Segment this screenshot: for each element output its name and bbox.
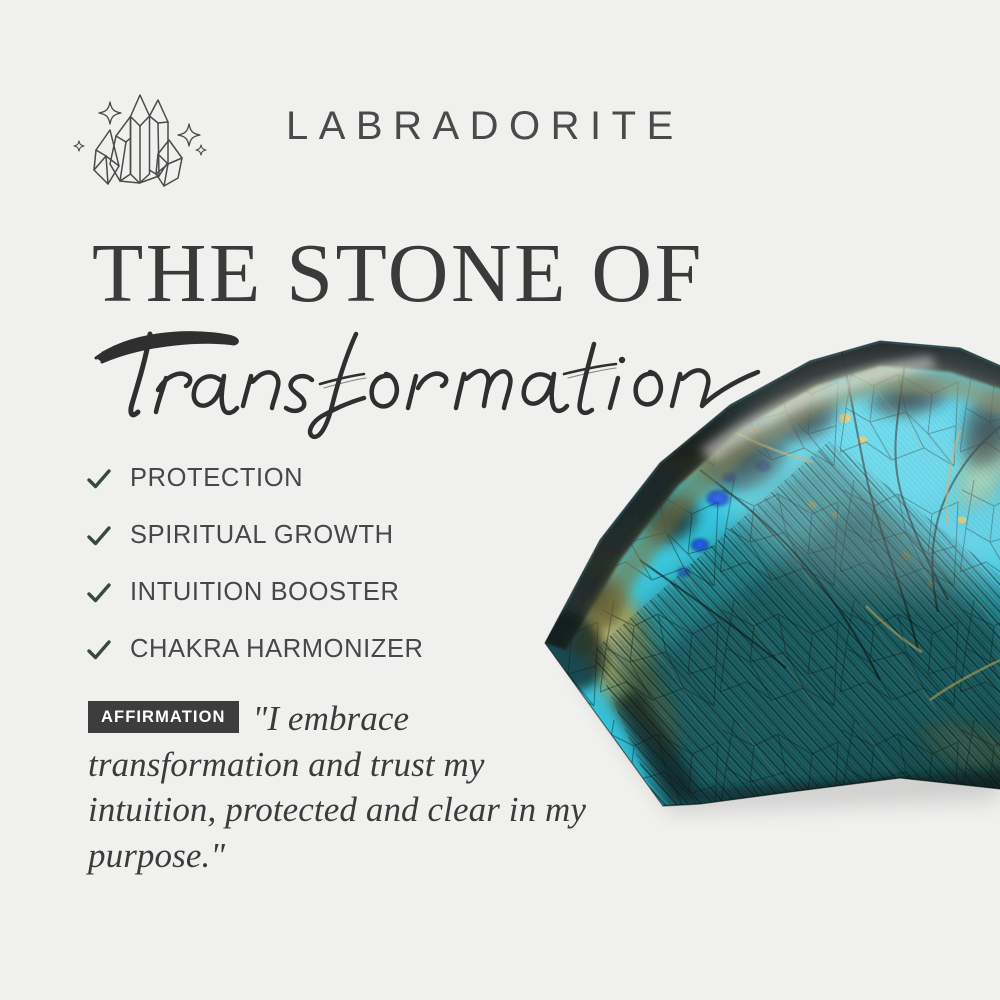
list-item-label: CHAKRA HARMONIZER bbox=[130, 635, 424, 664]
list-item: SPIRITUAL GROWTH bbox=[86, 507, 516, 564]
status-badge: AFFIRMATION bbox=[88, 701, 239, 733]
sparkle-icon bbox=[196, 145, 206, 155]
page-title: THE STONE OF bbox=[92, 232, 704, 316]
list-item: INTUITION BOOSTER bbox=[86, 564, 516, 621]
brand-logo-row: LABRADORITE bbox=[70, 78, 610, 196]
check-icon bbox=[86, 582, 130, 604]
check-icon bbox=[86, 525, 130, 547]
check-icon bbox=[86, 468, 130, 490]
headline-script-word bbox=[88, 318, 768, 430]
check-icon bbox=[86, 639, 130, 661]
benefits-list: PROTECTION SPIRITUAL GROWTH INTUITION BO… bbox=[86, 450, 516, 678]
list-item-label: PROTECTION bbox=[130, 464, 303, 493]
crystal-cluster-icon bbox=[70, 78, 210, 196]
poster-canvas: LABRADORITE THE STONE OF bbox=[0, 0, 1000, 1000]
list-item: CHAKRA HARMONIZER bbox=[86, 621, 516, 678]
list-item-label: SPIRITUAL GROWTH bbox=[130, 521, 394, 550]
sparkle-icon bbox=[178, 124, 200, 146]
list-item: PROTECTION bbox=[86, 450, 516, 507]
affirmation-block: AFFIRMATION"I embrace transformation and… bbox=[88, 696, 588, 878]
sparkle-icon bbox=[74, 141, 84, 151]
sparkle-icon bbox=[99, 102, 121, 124]
list-item-label: INTUITION BOOSTER bbox=[130, 578, 399, 607]
brand-name: LABRADORITE bbox=[286, 106, 684, 146]
